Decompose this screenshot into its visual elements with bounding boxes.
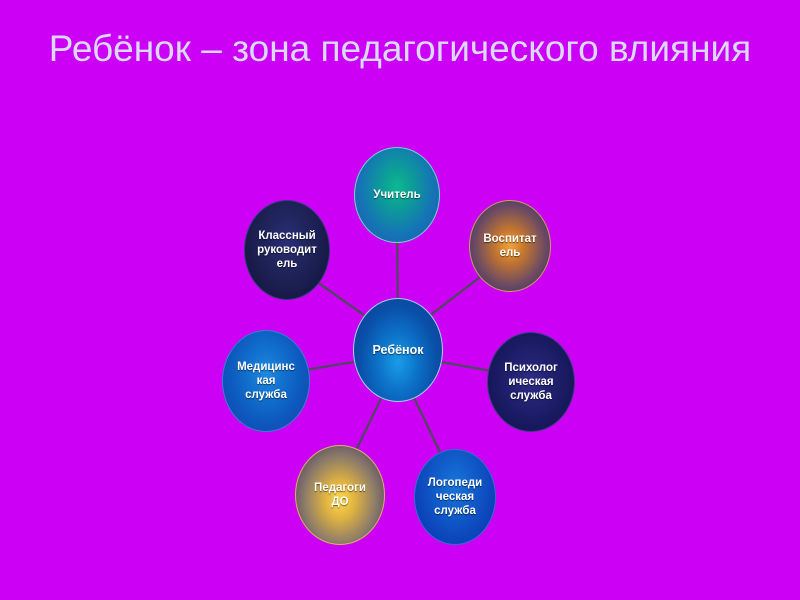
node-label-psihologicheskaya-sluzhba: Психолог ическая служба: [488, 361, 574, 403]
node-label-logopedicheskaya-sluzhba: Логопеди ческая служба: [415, 476, 495, 518]
diagram-node-vospitatel[interactable]: Воспитат ель: [469, 200, 551, 292]
slide-canvas: Ребёнок – зона педагогического влияния Р…: [0, 0, 800, 600]
diagram-node-pedagogi-do[interactable]: Педагоги ДО: [295, 445, 385, 545]
radial-diagram: Ребёнок Учитель Воспитат ель Психолог ич…: [0, 0, 800, 600]
node-label-uchitel: Учитель: [355, 188, 439, 202]
node-label-pedagogi-do: Педагоги ДО: [296, 481, 384, 509]
diagram-node-psihologicheskaya-sluzhba[interactable]: Психолог ическая служба: [487, 332, 575, 432]
diagram-node-logopedicheskaya-sluzhba[interactable]: Логопеди ческая служба: [414, 449, 496, 545]
node-label-vospitatel: Воспитат ель: [470, 232, 550, 260]
diagram-node-uchitel[interactable]: Учитель: [354, 147, 440, 243]
node-label-rebenok: Ребёнок: [354, 343, 442, 357]
diagram-node-klassnyj-rukovoditel[interactable]: Классный руководит ель: [244, 200, 330, 300]
node-label-klassnyj-rukovoditel: Классный руководит ель: [245, 229, 329, 271]
diagram-node-medicinskaya-sluzhba[interactable]: Медицинс кая служба: [222, 330, 310, 432]
diagram-node-rebenok[interactable]: Ребёнок: [353, 298, 443, 402]
node-label-medicinskaya-sluzhba: Медицинс кая служба: [223, 360, 309, 402]
